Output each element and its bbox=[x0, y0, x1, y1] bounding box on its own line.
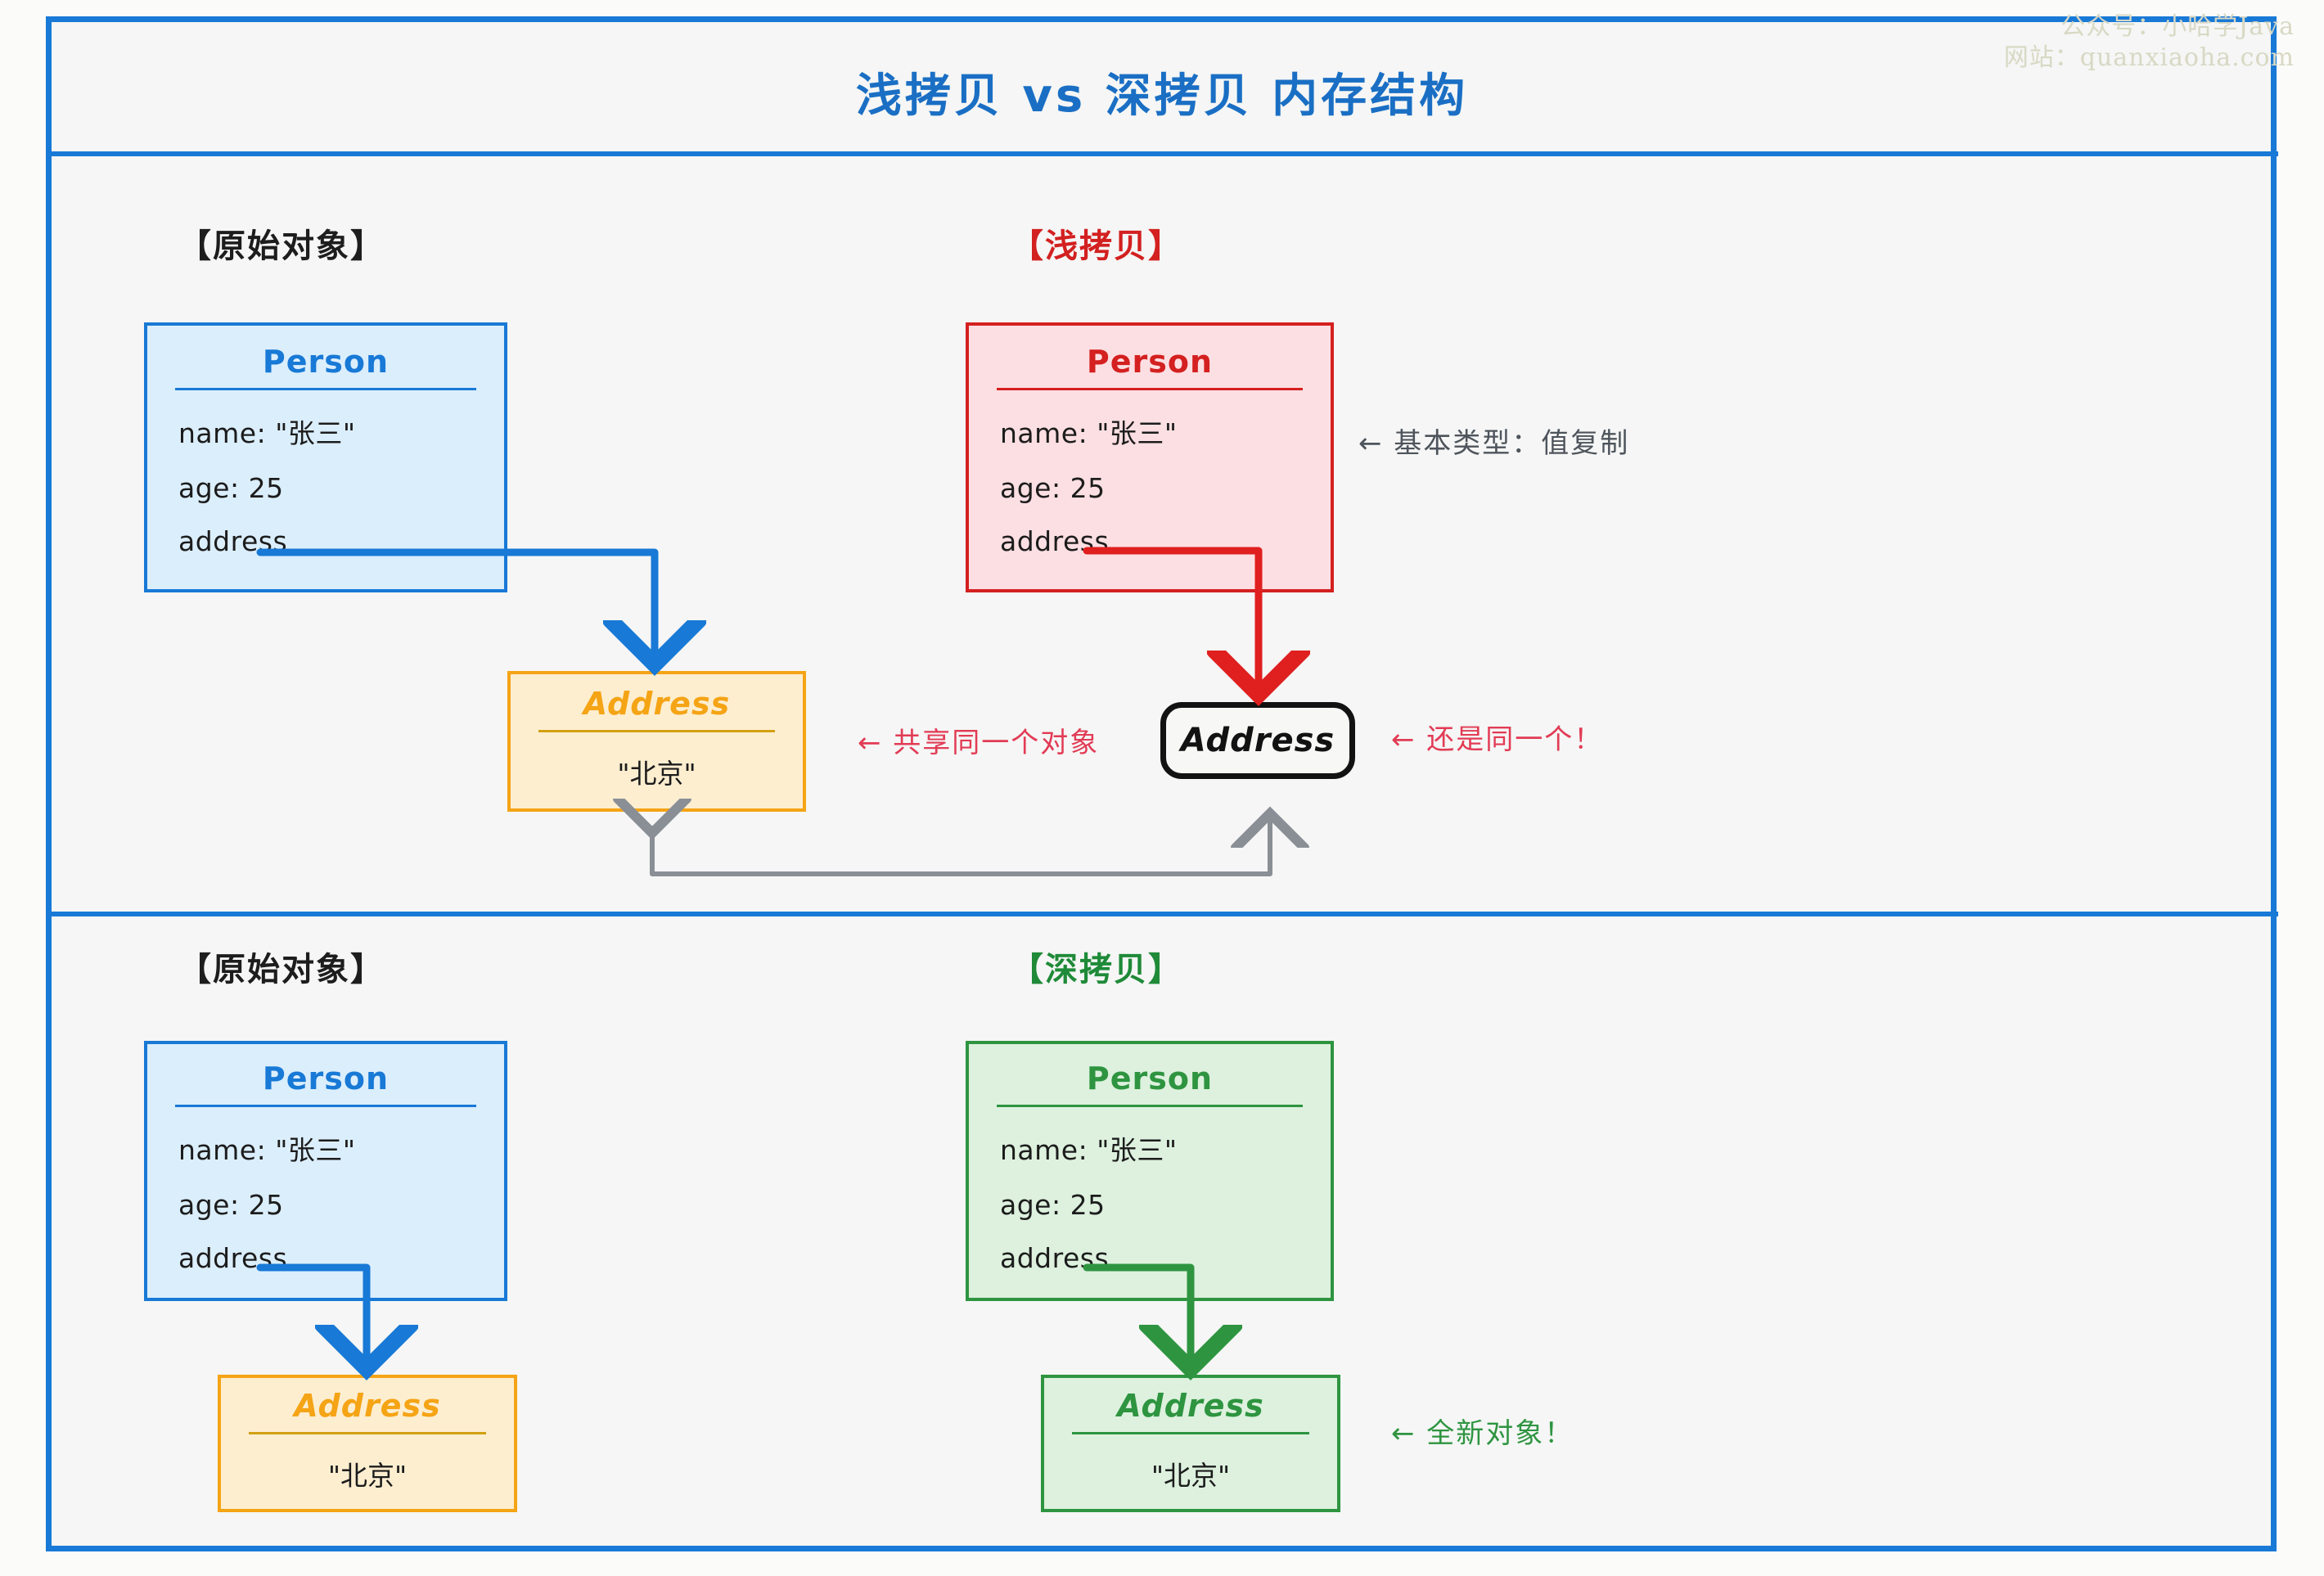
field-name: name: "张三" bbox=[1000, 1128, 1331, 1168]
deep-original-address-card: Address "北京" bbox=[218, 1375, 517, 1512]
card-title: Address bbox=[1044, 1388, 1337, 1424]
field-age: age: 25 bbox=[1000, 472, 1331, 504]
shallow-copy-label: 【浅拷贝】 bbox=[1011, 219, 1182, 267]
card-title: Person bbox=[147, 1060, 504, 1096]
shallow-shared-address-card: Address bbox=[1160, 702, 1355, 779]
field-address: address bbox=[1000, 525, 1331, 557]
field-age: age: 25 bbox=[178, 472, 504, 504]
card-value: "北京" bbox=[511, 752, 803, 791]
field-address: address bbox=[178, 525, 504, 557]
card-title: Address bbox=[1181, 722, 1335, 759]
card-fields: name: "张三" age: 25 address bbox=[969, 390, 1331, 557]
card-title: Person bbox=[969, 1060, 1331, 1096]
page-title: 浅拷贝 vs 深拷贝 内存结构 bbox=[0, 59, 2324, 125]
divider-top bbox=[46, 151, 2278, 156]
card-divider bbox=[1072, 1432, 1309, 1434]
deep-copy-label: 【深拷贝】 bbox=[1011, 943, 1182, 990]
shallow-original-person-card: Person name: "张三" age: 25 address bbox=[144, 322, 507, 592]
field-age: age: 25 bbox=[178, 1189, 504, 1221]
note-brand-new-object: ← 全新对象！ bbox=[1391, 1411, 1574, 1451]
card-title: Person bbox=[147, 344, 504, 380]
deep-original-label: 【原始对象】 bbox=[178, 943, 385, 990]
card-value: "北京" bbox=[221, 1454, 514, 1493]
shallow-original-label: 【原始对象】 bbox=[178, 219, 385, 267]
field-age: age: 25 bbox=[1000, 1189, 1331, 1221]
note-shared-object: ← 共享同一个对象 bbox=[858, 720, 1099, 760]
deep-original-person-card: Person name: "张三" age: 25 address bbox=[144, 1041, 507, 1301]
field-address: address bbox=[1000, 1242, 1331, 1274]
card-title: Person bbox=[969, 344, 1331, 380]
card-divider bbox=[538, 730, 775, 732]
field-name: name: "张三" bbox=[178, 1128, 504, 1168]
field-name: name: "张三" bbox=[1000, 412, 1331, 451]
card-fields: name: "张三" age: 25 address bbox=[147, 1107, 504, 1274]
deep-copy-person-card: Person name: "张三" age: 25 address bbox=[966, 1041, 1334, 1301]
deep-copy-address-card: Address "北京" bbox=[1041, 1375, 1340, 1512]
note-primitive-copy: ← 基本类型：值复制 bbox=[1358, 421, 1629, 461]
field-address: address bbox=[178, 1242, 504, 1274]
field-name: name: "张三" bbox=[178, 412, 504, 451]
card-value: "北京" bbox=[1044, 1454, 1337, 1493]
card-title: Address bbox=[221, 1388, 514, 1424]
card-divider bbox=[249, 1432, 486, 1434]
diagram-canvas: 公众号：小哈学Java 网站：quanxiaoha.com 浅拷贝 vs 深拷贝… bbox=[0, 0, 2324, 1576]
shallow-copy-person-card: Person name: "张三" age: 25 address bbox=[966, 322, 1334, 592]
shallow-original-address-card: Address "北京" bbox=[507, 671, 806, 812]
note-same-object: ← 还是同一个！ bbox=[1391, 717, 1603, 757]
card-fields: name: "张三" age: 25 address bbox=[147, 390, 504, 557]
divider-middle bbox=[46, 912, 2278, 916]
card-title: Address bbox=[511, 686, 803, 722]
card-fields: name: "张三" age: 25 address bbox=[969, 1107, 1331, 1274]
